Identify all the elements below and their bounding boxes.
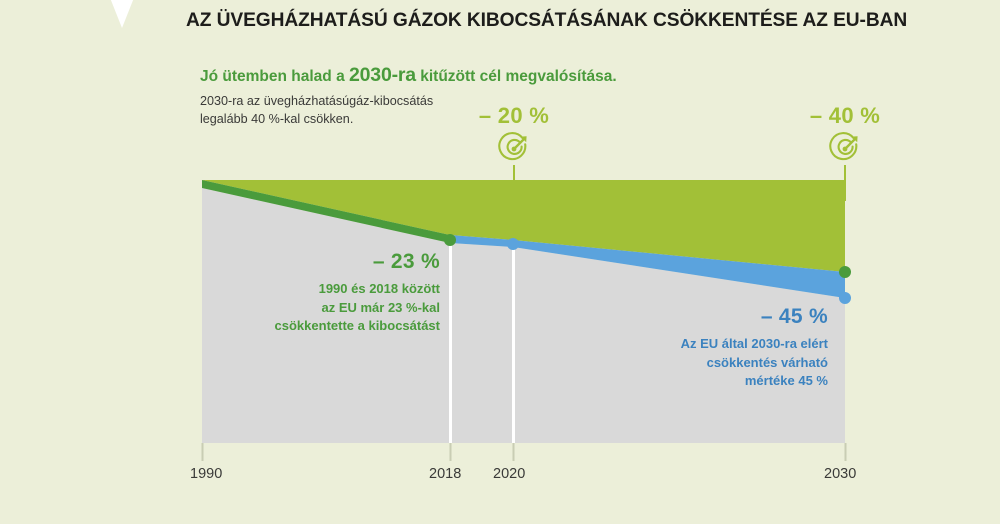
axis-label-2018: 2018 bbox=[429, 466, 461, 482]
datapoint-2020-blue bbox=[507, 238, 519, 250]
target-marker-2020: – 20 % bbox=[459, 104, 569, 201]
target-arrow-icon bbox=[459, 131, 569, 165]
datapoint-2018-green bbox=[444, 234, 456, 246]
target-arrow-icon bbox=[790, 131, 900, 165]
annotation-2018-line-1: 1990 és 2018 között bbox=[200, 280, 440, 299]
annotation-achieved-2018: – 23 % 1990 és 2018 között az EU már 23 … bbox=[200, 250, 440, 336]
annotation-2030-percent: – 45 % bbox=[590, 305, 828, 329]
annotation-2018-description: 1990 és 2018 között az EU már 23 %-kal c… bbox=[200, 280, 440, 336]
axis-label-2030: 2030 bbox=[824, 466, 856, 482]
annotation-2018-line-2: az EU már 23 %-kal bbox=[200, 299, 440, 318]
annotation-2018-line-3: csökkentette a kibocsátást bbox=[200, 317, 440, 336]
target-2030-percent: – 40 % bbox=[790, 104, 900, 128]
target-2020-stem bbox=[513, 165, 516, 201]
annotation-2030-line-2: csökkentés várható bbox=[590, 354, 828, 373]
target-2020-percent: – 20 % bbox=[459, 104, 569, 128]
annotation-2018-percent: – 23 % bbox=[200, 250, 440, 274]
datapoint-2030-blue bbox=[839, 292, 851, 304]
datapoint-2030-green bbox=[839, 266, 851, 278]
annotation-projected-2030: – 45 % Az EU által 2030-ra elért csökken… bbox=[590, 305, 828, 391]
target-2030-stem bbox=[844, 165, 847, 201]
axis-label-2020: 2020 bbox=[493, 466, 525, 482]
axis-label-1990: 1990 bbox=[190, 466, 222, 482]
target-marker-2030: – 40 % bbox=[790, 104, 900, 201]
emissions-area-chart bbox=[0, 0, 1000, 524]
annotation-2030-line-1: Az EU által 2030-ra elért bbox=[590, 335, 828, 354]
annotation-2030-description: Az EU által 2030-ra elért csökkentés vár… bbox=[590, 335, 828, 391]
annotation-2030-line-3: mértéke 45 % bbox=[590, 372, 828, 391]
